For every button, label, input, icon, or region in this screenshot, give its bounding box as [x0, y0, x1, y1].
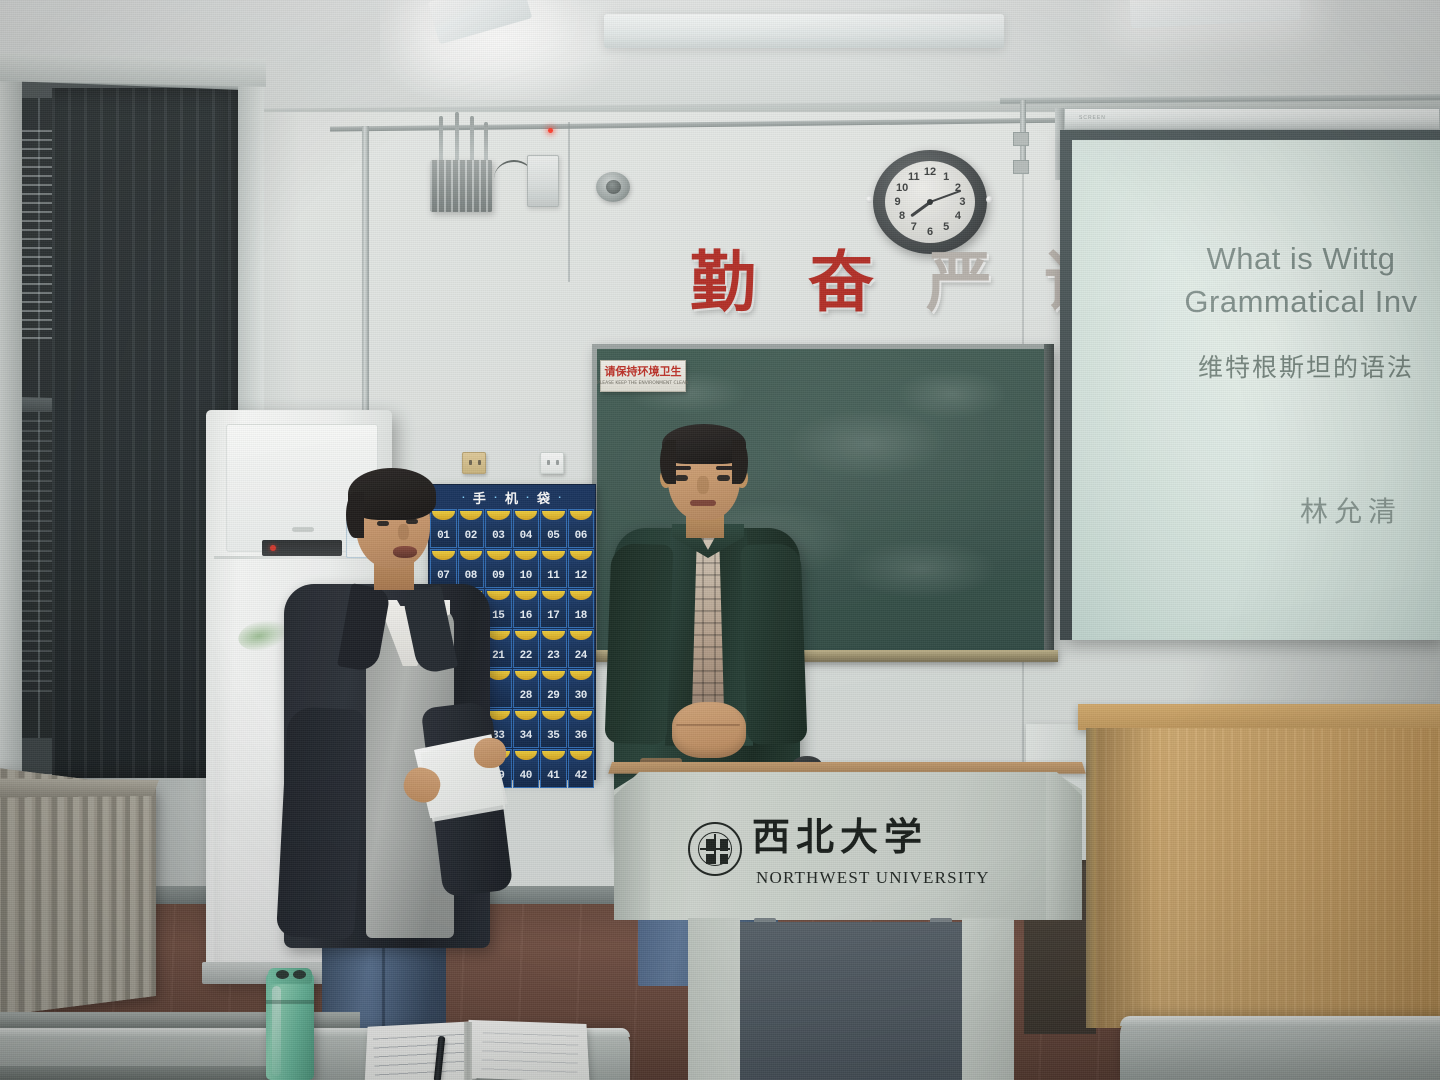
conduit-junction-box — [1013, 160, 1029, 174]
chalk-smudge — [897, 369, 1007, 419]
radiator-top — [0, 778, 159, 797]
phone-pocket-number: 05 — [547, 530, 559, 542]
slogan-char: 严 — [926, 250, 994, 316]
podium-top-surface — [608, 762, 1086, 774]
console-shadow — [1096, 728, 1156, 1028]
phone-pocket-number: 11 — [547, 570, 559, 582]
phone-pocket-number: 34 — [520, 730, 532, 742]
antenna-icon — [455, 112, 459, 162]
slide-author: 林允清 — [1072, 490, 1440, 530]
phone-pocket-number: 41 — [547, 770, 559, 782]
phone-pocket-number: 16 — [520, 610, 532, 622]
env-sign-line2: PLEASE KEEP THE ENVIRONMENT CLEAN — [597, 380, 688, 385]
handwriting-lines — [481, 1032, 578, 1075]
window-jamb — [0, 60, 22, 800]
person-mouth — [393, 546, 417, 558]
person-eye — [377, 521, 389, 526]
slide-title-line1: What is Wittg — [1206, 241, 1395, 276]
phone-pocket-number: 06 — [575, 530, 587, 542]
person-hair-side — [732, 440, 748, 484]
clock-center-pin — [927, 199, 933, 205]
seal-mark — [720, 854, 728, 864]
phone-pocket[interactable]: 22 — [513, 629, 540, 668]
finger-line — [676, 724, 740, 726]
phone-pocket[interactable]: 18 — [568, 589, 595, 628]
desk-lower-shelf — [0, 1066, 300, 1080]
phone-pocket[interactable]: 04 — [513, 509, 540, 548]
wall-clock: 12 1 2 3 4 5 6 7 8 9 10 11 — [873, 150, 987, 254]
pocket-header-char: 袋 — [537, 488, 551, 507]
handwriting-lines — [373, 1034, 471, 1080]
phone-pocket-number: 42 — [575, 770, 587, 782]
person-mouth — [690, 500, 716, 506]
university-seal-icon — [688, 822, 742, 876]
person-nose — [398, 524, 409, 540]
person-torso — [284, 578, 496, 948]
bullet-dot-icon: · — [558, 493, 562, 502]
podium-front-panel — [740, 922, 962, 1080]
phone-pocket[interactable]: 23 — [540, 629, 567, 668]
env-sign-line1: 请保持环境卫生 — [605, 366, 682, 377]
phone-pocket[interactable]: 12 — [568, 549, 595, 588]
phone-pocket-number: 36 — [575, 730, 587, 742]
phone-pocket-number: 17 — [547, 610, 559, 622]
clock-mount-screw — [986, 196, 993, 203]
socket-hole — [556, 460, 559, 465]
antenna-icon — [470, 116, 474, 162]
clasped-hands — [672, 702, 746, 758]
phone-pocket[interactable]: 24 — [568, 629, 595, 668]
phone-pocket[interactable]: 36 — [568, 709, 595, 748]
blackboard-right-edge — [1044, 344, 1054, 656]
person-arm — [605, 543, 674, 745]
person-eye — [675, 475, 688, 481]
wall-device-box — [527, 155, 559, 207]
person-arm — [276, 706, 366, 940]
podium-pillar — [688, 918, 740, 1080]
clock-mount-screw — [866, 196, 873, 203]
power-socket[interactable] — [540, 452, 564, 474]
phone-pocket-number: 10 — [520, 570, 532, 582]
clock-number: 1 — [943, 171, 949, 183]
thermos-cap-hole — [276, 970, 289, 979]
screen-housing-label: SCREEN — [1079, 115, 1106, 121]
podium-university-name-en: NORTHWEST UNIVERSITY — [756, 868, 990, 888]
projection-screen: What is Wittg Grammatical Inv 维特根斯坦的语法 林… — [1060, 130, 1440, 640]
phone-pocket-number: 24 — [575, 650, 587, 662]
slogan-char: 勤 — [690, 250, 758, 316]
slide-title: What is Wittg Grammatical Inv — [1072, 238, 1440, 324]
slide-title-line2: Grammatical Inv — [1184, 284, 1417, 319]
seal-mark — [720, 839, 728, 851]
clock-face: 12 1 2 3 4 5 6 7 8 9 10 11 — [885, 161, 975, 243]
person-hair-side — [346, 492, 364, 538]
clock-number: 11 — [908, 171, 920, 183]
seal-mark — [706, 854, 714, 864]
phone-pocket-number: 23 — [547, 650, 559, 662]
radiator — [0, 766, 156, 1019]
socket-hole — [547, 460, 550, 465]
dome-sensor-lens — [606, 180, 621, 194]
clock-number: 9 — [895, 196, 901, 208]
phone-pocket[interactable]: 41 — [540, 749, 567, 788]
clock-number: 10 — [896, 182, 908, 194]
front-desk-right-edge — [1120, 1016, 1440, 1026]
projection-screen-surface: What is Wittg Grammatical Inv 维特根斯坦的语法 林… — [1072, 140, 1440, 640]
phone-pocket-number: 30 — [575, 690, 587, 702]
socket-hole — [469, 460, 472, 465]
window-head-trim — [0, 53, 266, 87]
person-hair-side — [660, 440, 676, 484]
person-eyebrow — [674, 466, 691, 470]
phone-pocket-number: 29 — [547, 690, 559, 702]
phone-pocket-number: 28 — [520, 690, 532, 702]
person-nose — [697, 476, 709, 494]
person-arm — [741, 543, 808, 745]
phone-pocket[interactable]: 06 — [568, 509, 595, 548]
console-desk-top — [1078, 704, 1440, 730]
podium-left-face — [614, 772, 650, 920]
phone-pocket[interactable]: 40 — [513, 749, 540, 788]
chalk-smudge — [847, 539, 997, 599]
phone-pocket[interactable]: 16 — [513, 589, 540, 628]
clock-number: 12 — [924, 166, 936, 178]
phone-pocket[interactable]: 35 — [540, 709, 567, 748]
status-led-icon — [548, 128, 553, 133]
phone-pocket[interactable]: 28 — [513, 669, 540, 708]
environment-notice-sign: 请保持环境卫生 PLEASE KEEP THE ENVIRONMENT CLEA… — [600, 360, 686, 392]
socket-hole — [478, 460, 481, 465]
antenna-icon — [439, 116, 443, 162]
signal-jammer-fins — [430, 160, 492, 212]
clock-number: 4 — [955, 210, 961, 222]
phone-pocket[interactable]: 29 — [540, 669, 567, 708]
person-eye — [717, 475, 730, 481]
notebook-spine — [464, 1022, 472, 1080]
screen-roller-housing: SCREEN — [1064, 108, 1440, 130]
bullet-dot-icon: · — [526, 493, 530, 502]
screen-sheen — [1072, 140, 1440, 640]
classroom-scene: 12 1 2 3 4 5 6 7 8 9 10 11 勤 奋 严 谨 — [0, 0, 1440, 1080]
phone-pocket[interactable]: 11 — [540, 549, 567, 588]
phone-pocket[interactable]: 42 — [568, 749, 595, 788]
phone-pocket[interactable]: 05 — [540, 509, 567, 548]
slogan-char: 奋 — [808, 250, 876, 316]
phone-pocket[interactable]: 17 — [540, 589, 567, 628]
antenna-icon — [484, 122, 488, 162]
thermos-cap-hole — [293, 970, 306, 979]
phone-pocket-number: 04 — [520, 530, 532, 542]
power-led-icon — [270, 545, 276, 551]
podium-university-name-cn: 西北大学 — [752, 818, 928, 856]
clock-number: 3 — [959, 196, 965, 208]
phone-pocket-number: 40 — [520, 770, 532, 782]
clock-number: 5 — [943, 221, 949, 233]
phone-pocket[interactable]: 34 — [513, 709, 540, 748]
podium-pillar — [962, 918, 1014, 1080]
person-hand — [474, 738, 506, 768]
phone-pocket-number: 12 — [575, 570, 587, 582]
clock-number: 7 — [911, 221, 917, 233]
conduit-junction-box — [1013, 132, 1029, 146]
phone-pocket-number: 18 — [575, 610, 587, 622]
person-eyebrow — [716, 466, 733, 470]
phone-pocket[interactable]: 10 — [513, 549, 540, 588]
thermos-band — [266, 1000, 314, 1004]
clock-number: 6 — [927, 226, 933, 238]
seal-mark — [706, 839, 714, 851]
podium-right-face — [1046, 772, 1082, 920]
wall-slogan: 勤 奋 严 谨 — [690, 250, 1112, 316]
conduit-pipe — [362, 126, 369, 416]
clock-minute-hand — [930, 190, 962, 203]
clock-number: 8 — [899, 210, 905, 222]
phone-pocket-number: 35 — [547, 730, 559, 742]
phone-pocket[interactable]: 30 — [568, 669, 595, 708]
slide-subtitle: 维特根斯坦的语法 — [1072, 348, 1440, 384]
chalk-smudge — [787, 409, 947, 479]
ceiling-light-fixture — [604, 14, 1004, 48]
wall-panel-seam — [568, 122, 570, 282]
phone-pocket-number: 22 — [520, 650, 532, 662]
